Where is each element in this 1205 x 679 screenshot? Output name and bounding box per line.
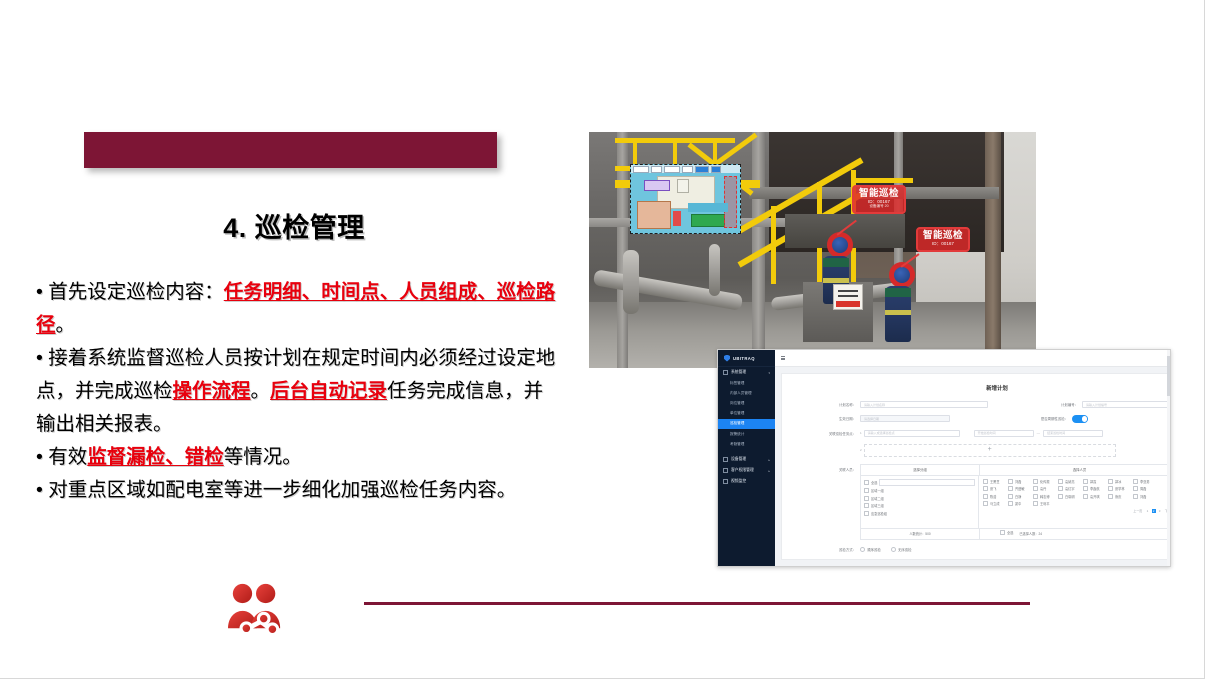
person-label: 熊庆 <box>1115 494 1121 499</box>
person-label: 李鑫航 <box>1090 486 1100 491</box>
group-checkbox-3[interactable]: 区域三组 <box>864 503 975 508</box>
start-time-input-1[interactable]: 开始巡检时间 <box>974 430 1034 437</box>
person-label: 袁丹 <box>1040 486 1046 491</box>
body-text: • 首先设定巡检内容：任务明细、时间点、人员组成、巡检路径。 • 接着系统监督巡… <box>36 276 556 507</box>
sidebar-group-video[interactable]: 视频监控 <box>718 476 775 487</box>
sidebar-group-video-label: 视频监控 <box>731 479 746 484</box>
save-button[interactable]: 保存 <box>979 559 1021 560</box>
hamburger-icon[interactable] <box>781 356 785 360</box>
checkbox-icon-all[interactable] <box>864 480 869 485</box>
photo-warning-sign <box>833 284 863 310</box>
person-checkbox[interactable]: 齐盛敏 <box>1008 486 1032 491</box>
group-checkbox-2[interactable]: 区域二组 <box>864 496 975 501</box>
checkbox-icon-p2[interactable] <box>1033 479 1038 484</box>
sidebar-item-attendance-mgmt[interactable]: 考勤管理 <box>718 439 775 449</box>
checkbox-icon-p15[interactable] <box>1008 494 1013 499</box>
new-plan-form-card: 新增计划 计划名称： 请输入计划名称 计划编号： 请输入计划编号 生效日期： 请… <box>781 373 1171 560</box>
checkbox-icon-p9[interactable] <box>1033 486 1038 491</box>
sidebar-group-system-label: 系统管理 <box>731 370 746 375</box>
checkbox-icon-p6[interactable] <box>1133 479 1138 484</box>
map-chip-2 <box>651 166 662 173</box>
bullet-4: • 对重点区域如配电室等进一步细化加强巡检任务内容。 <box>36 474 556 507</box>
checkbox-icon-p17[interactable] <box>1058 494 1063 499</box>
person-label: 陈浩 <box>990 494 996 499</box>
sidebar-item-tag-mgmt[interactable]: 标签管理 <box>718 378 775 388</box>
bullet-2-mid: 。 <box>251 380 271 402</box>
add-inspection-point-button[interactable]: + <box>864 444 1116 457</box>
person-checkbox[interactable]: 李鑫航 <box>1083 486 1107 491</box>
person-label: 齐盛敏 <box>1015 486 1025 491</box>
person-grid: 王黑豆 刘磊 化传振 袁纳亮 郭霞 郭冰 李亚男 张飞 齐盛敏 袁丹 <box>983 479 1171 509</box>
plan-code-input[interactable]: 请输入计划编号 <box>1082 401 1171 408</box>
picker-footer-right: 全选 已选择人数：24 <box>980 529 1171 539</box>
person-label: 袁纳亮 <box>1065 479 1075 484</box>
photo-pipe-2 <box>623 250 639 314</box>
group-label-all: 全选 <box>871 480 877 485</box>
radio-icon-ordered[interactable] <box>860 547 865 552</box>
select-all-checkbox[interactable]: 全选 <box>1000 530 1013 535</box>
person-checkbox[interactable]: 刘磊 <box>1133 494 1157 499</box>
form-row-mode: 巡检方式： 顺序巡检 无序巡检 <box>792 547 1171 552</box>
photo-stair-post-1 <box>771 206 776 284</box>
person-pager: 上一页 1 2 3 下一页 <box>983 509 1171 513</box>
checkbox-icon-p14[interactable] <box>983 494 988 499</box>
map-zone-red-strip <box>724 176 737 228</box>
checkbox-icon-p0[interactable] <box>983 479 988 484</box>
bullet-2-highlight-2: 后台自动记录 <box>270 380 387 402</box>
checkbox-icon-g1[interactable] <box>864 488 869 493</box>
effective-date-input[interactable]: 请选择日期 <box>860 415 950 422</box>
inspection-point-label: 关联巡检任务点： <box>792 431 860 436</box>
map-zone-green <box>691 214 725 227</box>
pager-page-1[interactable]: 1 <box>1145 509 1149 513</box>
sign-red-band <box>836 301 860 307</box>
sign-line-1 <box>838 290 858 292</box>
map-chip-active-2 <box>711 166 721 173</box>
person-checkbox[interactable]: 袁开琪 <box>1083 494 1107 499</box>
slide-root: 4. 巡检管理 • 首先设定巡检内容：任务明细、时间点、人员组成、巡检路径。 •… <box>0 0 1205 679</box>
photo-platform-rail <box>851 178 913 183</box>
callout-2-id: ID：00167 <box>923 242 963 247</box>
group-label-3: 区域三组 <box>871 503 884 508</box>
person-checkbox[interactable]: 化传振 <box>1033 479 1057 484</box>
group-search-input[interactable] <box>879 479 975 486</box>
people-share-icon <box>225 580 287 636</box>
callout-badge-2: 智能巡检 ID：00167 <box>916 227 970 252</box>
person-checkbox[interactable]: 熊庆 <box>1108 494 1132 499</box>
mode-label-ordered: 顺序巡检 <box>867 547 881 552</box>
picker-person-list: 王黑豆 刘磊 化传振 袁纳亮 郭霞 郭冰 李亚男 张飞 齐盛敏 袁丹 <box>979 476 1171 528</box>
person-checkbox[interactable]: 窦中 <box>1008 501 1032 506</box>
group-label-2: 区域二组 <box>871 496 884 501</box>
checkbox-icon-p8[interactable] <box>1008 486 1013 491</box>
form-title: 新增计划 <box>792 384 1171 392</box>
sidebar-item-unit-mgmt[interactable]: 单位管理 <box>718 409 775 419</box>
map-zone-orange <box>637 201 671 229</box>
person-label: 王黑豆 <box>990 479 1000 484</box>
sidebar-group-device-label: 设备管理 <box>731 457 746 462</box>
map-chip-3 <box>664 166 680 173</box>
camera-icon <box>723 479 728 484</box>
group-checkbox-1[interactable]: 区域一组 <box>864 488 975 493</box>
person-label: 张学林 <box>1115 486 1125 491</box>
pager-page-2[interactable]: 2 <box>1152 509 1156 513</box>
map-zone-purple <box>644 180 670 191</box>
person-checkbox[interactable]: 袁红宇 <box>1058 486 1082 491</box>
checkbox-icon-p7[interactable] <box>983 486 988 491</box>
person-label: 袁红宇 <box>1065 486 1075 491</box>
effective-date-label: 生效日期： <box>792 416 860 421</box>
person-checkbox[interactable]: 马立成 <box>983 501 1007 506</box>
title-banner <box>84 132 497 168</box>
app-topbar: admin001 <box>775 350 1171 367</box>
person-checkbox[interactable]: 郭霞 <box>1083 479 1107 484</box>
bullet-3: • 有效监督漏检、错检等情况。 <box>36 441 556 474</box>
bullet-4-text: • 对重点区域如配电室等进一步细化加强巡检任务内容。 <box>36 479 516 501</box>
person-label: 周磊 <box>1140 486 1146 491</box>
worker-2-shoulder <box>885 288 911 297</box>
person-checkbox[interactable]: 郭冰 <box>1108 479 1132 484</box>
person-checkbox[interactable]: 王利平 <box>1033 501 1057 506</box>
map-zone-white-1 <box>677 179 689 193</box>
person-label: 郭冰 <box>1115 479 1121 484</box>
bullet-1: • 首先设定巡检内容：任务明细、时间点、人员组成、巡检路径。 <box>36 276 556 342</box>
checkbox-icon-p18[interactable] <box>1083 494 1088 499</box>
person-checkbox[interactable]: 李亚男 <box>1133 479 1157 484</box>
worker-1-helmet-marker <box>827 232 853 258</box>
checkbox-icon-p3[interactable] <box>1058 479 1063 484</box>
form-row-name-code: 计划名称： 请输入计划名称 计划编号： 请输入计划编号 <box>792 401 1171 408</box>
checkbox-icon-g2[interactable] <box>864 496 869 501</box>
photo-column-4 <box>985 132 1001 362</box>
inspection-point-input-1[interactable]: 请输入或选择巡检点 <box>864 430 960 437</box>
worker-1-shoulder <box>823 258 849 267</box>
checkbox-icon-g4[interactable] <box>864 511 869 516</box>
checkbox-icon-p22[interactable] <box>1008 501 1013 506</box>
form-row-personnel: 关联人员： 选择分组 选择人员 全选 <box>792 464 1171 540</box>
device-icon <box>723 457 728 462</box>
picker-selected-count: 已选择人数：24 <box>1019 531 1042 536</box>
map-chip-1 <box>633 166 649 173</box>
checkbox-icon-p16[interactable] <box>1033 494 1038 499</box>
person-checkbox[interactable]: 韩志博 <box>1033 494 1057 499</box>
callout-2-title: 智能巡检 <box>923 231 963 241</box>
callout-1-sub: 设备编号 20 <box>859 205 899 209</box>
bullet-1-tail: 。 <box>56 314 76 336</box>
page-title: 4. 巡检管理 <box>84 206 504 245</box>
sidebar-item-position-mgmt[interactable]: 岗位管理 <box>718 398 775 408</box>
chevron-right-icon-device: ▸ <box>768 458 770 462</box>
picker-total-count: 人数统计：500 <box>861 529 980 539</box>
person-checkbox[interactable]: 王黑豆 <box>983 479 1007 484</box>
app-logo-text: UBITRAQ <box>733 356 755 361</box>
person-checkbox[interactable]: 刘磊 <box>1008 479 1032 484</box>
checkbox-icon-p1[interactable] <box>1008 479 1013 484</box>
checkbox-icon-p21[interactable] <box>983 501 988 506</box>
person-checkbox[interactable]: 陈浩 <box>983 494 1007 499</box>
mode-radio-unordered[interactable]: 无序巡检 <box>891 547 912 552</box>
select-all-label: 全选 <box>1007 530 1013 535</box>
map-zone-cyan <box>688 203 728 212</box>
picker-footer: 人数统计：500 全选 已选择人数：24 <box>861 528 1171 539</box>
shield-icon <box>724 355 730 362</box>
picker-group-list: 全选 区域一组 区域二组 区域三组 应急巡检组 <box>861 476 979 528</box>
checkbox-icon-p4[interactable] <box>1083 479 1088 484</box>
form-row-point-1: 关联巡检任务点： 1 请输入或选择巡检点 开始巡检时间 — 结束巡检时间 <box>792 430 1171 437</box>
person-checkbox[interactable]: 白静 <box>1008 494 1032 499</box>
plan-code-label: 计划编号： <box>1014 402 1082 407</box>
personnel-picker: 选择分组 选择人员 全选 区域一组 区域二组 <box>860 464 1171 540</box>
map-chip-4 <box>682 166 693 173</box>
chevron-right-icon-customer: ▸ <box>768 469 770 473</box>
personnel-label: 关联人员： <box>792 464 860 472</box>
form-row-date-switch: 生效日期： 请选择日期 是否周期性巡检： <box>792 415 1171 423</box>
time-range-separator: — <box>1034 431 1043 435</box>
sidebar-item-alarm-stats[interactable]: 报警统计 <box>718 429 775 439</box>
picker-person-header: 选择人员 <box>980 465 1171 475</box>
pager-page-3[interactable]: 3 <box>1158 509 1162 513</box>
person-label: 白静 <box>1015 494 1021 499</box>
worker-1-stripe <box>823 278 849 283</box>
worker-2-stripe <box>885 310 911 315</box>
chevron-down-icon: ▾ <box>768 371 770 375</box>
checkbox-icon-p13[interactable] <box>1133 486 1138 491</box>
person-checkbox[interactable]: 张飞 <box>983 486 1007 491</box>
map-chip-active-1 <box>695 166 709 173</box>
end-time-input-1[interactable]: 结束巡检时间 <box>1043 430 1103 437</box>
map-zone-small-red <box>673 211 681 226</box>
bullet-2-highlight-1: 操作流程 <box>173 380 251 402</box>
app-main: admin001 新增计划 计划名称： 请输入计划名称 计划编号： 请输入计划编… <box>775 350 1171 566</box>
person-label: 王利平 <box>1040 501 1050 506</box>
person-checkbox[interactable]: 袁纳亮 <box>1058 479 1082 484</box>
checkbox-icon-p23[interactable] <box>1033 501 1038 506</box>
form-actions: 保存 取消 <box>792 559 1171 560</box>
app-scrollbar[interactable] <box>1167 350 1170 566</box>
person-label: 刘磊 <box>1015 479 1021 484</box>
divider-rule <box>364 602 1030 605</box>
mode-label: 巡检方式： <box>792 547 860 552</box>
person-checkbox[interactable]: 袁丹 <box>1033 486 1057 491</box>
plan-name-label: 计划名称： <box>792 402 860 407</box>
person-checkbox[interactable]: 张学林 <box>1108 486 1132 491</box>
group-label-4: 应急巡检组 <box>871 511 887 516</box>
bullet-3-lead: • 有效 <box>36 446 87 468</box>
person-label: 白晓明 <box>1065 494 1075 499</box>
inspection-site-photo: 智能巡检 ID：00167 设备编号 20 智能巡检 ID：00167 <box>589 132 1036 368</box>
map-overlay-toolbar <box>631 165 740 173</box>
person-label: 袁开琪 <box>1090 494 1100 499</box>
sidebar-group-system[interactable]: 系统管理 ▾ <box>718 367 775 378</box>
checkbox-icon-p5[interactable] <box>1108 479 1113 484</box>
person-label: 化传振 <box>1040 479 1050 484</box>
permission-icon <box>723 468 728 473</box>
bullet-3-tail: 等情况。 <box>224 446 302 468</box>
person-label: 窦中 <box>1015 501 1021 506</box>
sidebar-group-customer[interactable]: 客户权限管理 ▸ <box>718 465 775 476</box>
periodic-label: 是否周期性巡检： <box>994 416 1072 421</box>
person-label: 张飞 <box>990 486 996 491</box>
person-label: 李亚男 <box>1140 479 1150 484</box>
radio-icon-unordered[interactable] <box>891 547 896 552</box>
person-checkbox[interactable]: 白晓明 <box>1058 494 1082 499</box>
photo-pipe-3 <box>709 244 720 296</box>
checkbox-icon-p12[interactable] <box>1108 486 1113 491</box>
person-label: 刘磊 <box>1140 494 1146 499</box>
mode-radio-ordered[interactable]: 顺序巡检 <box>860 547 881 552</box>
sidebar-item-internal-staff[interactable]: 内部人员管理 <box>718 388 775 398</box>
checkbox-icon-p19[interactable] <box>1108 494 1113 499</box>
checkbox-icon-p20[interactable] <box>1133 494 1138 499</box>
checkbox-icon-p10[interactable] <box>1058 486 1063 491</box>
picker-group-header: 选择分组 <box>861 465 980 475</box>
picker-header: 选择分组 选择人员 <box>861 465 1171 476</box>
sidebar-group-device[interactable]: 设备管理 ▸ <box>718 454 775 465</box>
grid-icon <box>723 370 728 375</box>
group-checkbox-4[interactable]: 应急巡检组 <box>864 511 975 516</box>
person-checkbox[interactable]: 周磊 <box>1133 486 1157 491</box>
callout-badge-1: 智能巡检 ID：00167 设备编号 20 <box>852 185 906 214</box>
group-checkbox-all[interactable]: 全选 <box>864 479 975 486</box>
bullet-1-lead: • 首先设定巡检内容： <box>36 281 224 303</box>
picker-body: 全选 区域一组 区域二组 区域三组 应急巡检组 王黑豆 <box>861 476 1171 528</box>
bullet-2: • 接着系统监督巡检人员按计划在规定时间内必须经过设定地点，并完成巡检操作流程。… <box>36 342 556 441</box>
periodic-toggle[interactable] <box>1072 415 1088 423</box>
facility-map-overlay <box>630 164 741 234</box>
callout-1-title: 智能巡检 <box>859 189 899 199</box>
group-label-1: 区域一组 <box>871 488 884 493</box>
checkbox-icon-select-all[interactable] <box>1000 530 1005 535</box>
sidebar-group-customer-label: 客户权限管理 <box>731 468 754 473</box>
person-label: 马立成 <box>990 501 1000 506</box>
form-row-point-add: 2 + <box>792 444 1171 457</box>
mode-label-unordered: 无序巡检 <box>898 547 912 552</box>
sidebar-item-inspection-mgmt[interactable]: 巡检管理 <box>718 419 775 429</box>
bullet-3-highlight: 监督漏检、错检 <box>87 446 224 468</box>
pager-prev[interactable]: 上一页 <box>1132 509 1143 513</box>
checkbox-icon-p11[interactable] <box>1083 486 1088 491</box>
person-label: 韩志博 <box>1040 494 1050 499</box>
checkbox-icon-g3[interactable] <box>864 503 869 508</box>
cancel-button[interactable]: 取消 <box>1033 559 1075 560</box>
app-sidebar: UBITRAQ 系统管理 ▾ 标签管理 内部人员管理 岗位管理 单位管理 巡检管… <box>718 350 775 566</box>
person-label: 郭霞 <box>1090 479 1096 484</box>
app-screenshot-window: UBITRAQ 系统管理 ▾ 标签管理 内部人员管理 岗位管理 单位管理 巡检管… <box>717 349 1171 567</box>
plan-name-input[interactable]: 请输入计划名称 <box>860 401 988 408</box>
sign-line-2 <box>838 295 858 297</box>
app-logo: UBITRAQ <box>718 350 775 367</box>
